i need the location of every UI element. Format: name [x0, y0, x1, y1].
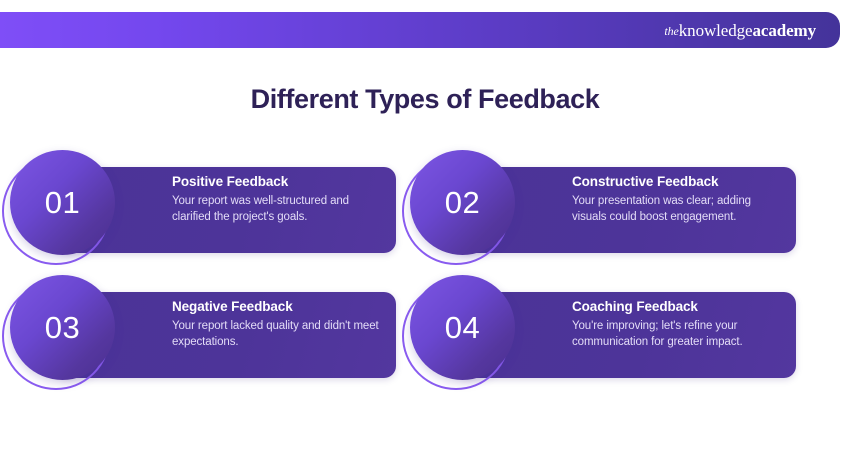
badge-number: 01 — [45, 187, 80, 218]
card-title: Coaching Feedback — [572, 299, 787, 315]
card-text-block: Constructive Feedback Your presentation … — [572, 174, 787, 225]
feedback-card-2[interactable]: Constructive Feedback Your presentation … — [400, 150, 796, 275]
brand-logo: theknowledgeacademy — [664, 22, 816, 39]
badge-circle: 03 — [10, 275, 115, 380]
card-number-badge: 01 — [2, 150, 120, 268]
badge-number: 02 — [445, 187, 480, 218]
feedback-card-3[interactable]: Negative Feedback Your report lacked qua… — [0, 275, 396, 400]
feedback-card-grid: Positive Feedback Your report was well-s… — [0, 150, 850, 410]
card-number-badge: 02 — [402, 150, 520, 268]
card-description: Your report lacked quality and didn't me… — [172, 318, 387, 351]
card-description: You're improving; let's refine your comm… — [572, 318, 787, 351]
brand-logo-academy: academy — [752, 21, 816, 40]
feedback-card-1[interactable]: Positive Feedback Your report was well-s… — [0, 150, 396, 275]
card-text-block: Negative Feedback Your report lacked qua… — [172, 299, 387, 350]
badge-circle: 04 — [410, 275, 515, 380]
badge-circle: 02 — [410, 150, 515, 255]
brand-logo-the: the — [664, 24, 678, 38]
card-description: Your report was well-structured and clar… — [172, 193, 387, 226]
card-description: Your presentation was clear; adding visu… — [572, 193, 787, 226]
page-title: Different Types of Feedback — [0, 84, 850, 115]
card-number-badge: 04 — [402, 275, 520, 393]
header-bar: theknowledgeacademy — [0, 12, 840, 48]
card-title: Positive Feedback — [172, 174, 387, 190]
card-number-badge: 03 — [2, 275, 120, 393]
brand-logo-knowledge: knowledge — [679, 21, 753, 40]
badge-number: 03 — [45, 312, 80, 343]
card-text-block: Positive Feedback Your report was well-s… — [172, 174, 387, 225]
feedback-card-4[interactable]: Coaching Feedback You're improving; let'… — [400, 275, 796, 400]
badge-circle: 01 — [10, 150, 115, 255]
card-title: Negative Feedback — [172, 299, 387, 315]
card-title: Constructive Feedback — [572, 174, 787, 190]
card-text-block: Coaching Feedback You're improving; let'… — [572, 299, 787, 350]
badge-number: 04 — [445, 312, 480, 343]
